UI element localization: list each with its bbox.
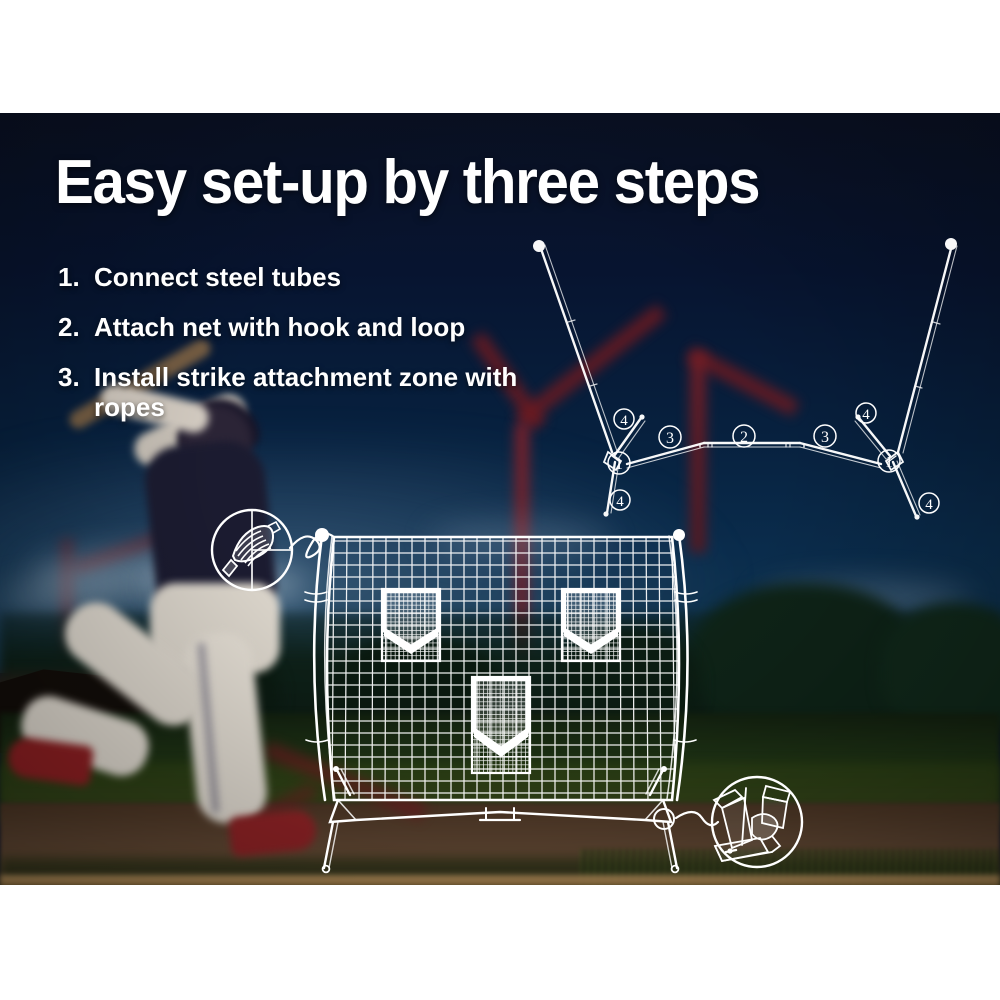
list-item: 2. Attach net with hook and loop (58, 312, 528, 342)
background-photo (0, 113, 1000, 885)
step-text: Attach net with hook and loop (94, 312, 528, 342)
step-text: Connect steel tubes (94, 262, 528, 292)
photo-vignette (0, 113, 1000, 885)
list-item: 1. Connect steel tubes (58, 262, 528, 292)
product-infographic: 1 1 2 3 3 4 4 4 (0, 0, 1000, 1000)
step-number: 1. (58, 262, 94, 292)
list-item: 3. Install strike attachment zone with r… (58, 362, 528, 422)
setup-steps-list: 1. Connect steel tubes 2. Attach net wit… (58, 262, 528, 443)
step-number: 2. (58, 312, 94, 342)
step-number: 3. (58, 362, 94, 392)
page-title: Easy set-up by three steps (55, 152, 759, 214)
step-text: Install strike attachment zone with rope… (94, 362, 528, 422)
